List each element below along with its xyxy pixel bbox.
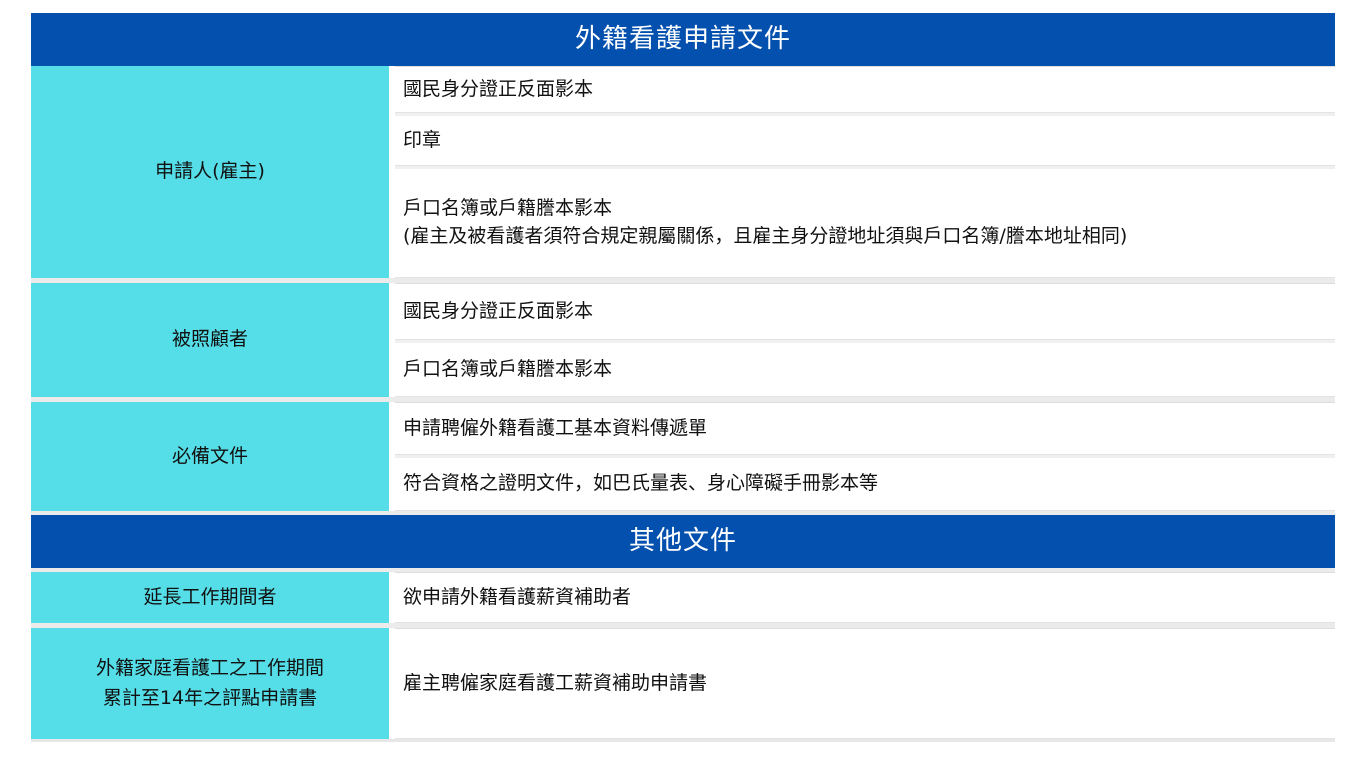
document-item-multiline: 戶口名簿或戶籍謄本影本 (雇主及被看護者須符合規定親屬關係，且雇主身分證地址須與… — [403, 195, 1127, 250]
document-item-text-line2: (雇主及被看護者須符合規定親屬關係，且雇主身分證地址須與戶口名簿/謄本地址相同) — [403, 223, 1127, 251]
document-item-text: 雇主聘僱家庭看護工薪資補助申請書 — [403, 670, 707, 698]
row-label-extended-work-period: 延長工作期間者 — [31, 572, 389, 623]
document-item-text: 符合資格之證明文件，如巴氏量表、身心障礙手冊影本等 — [403, 470, 878, 498]
list-item: 符合資格之證明文件，如巴氏量表、身心障礙手冊影本等 — [395, 455, 1335, 511]
list-item: 戶口名簿或戶籍謄本影本 (雇主及被看護者須符合規定親屬關係，且雇主身分證地址須與… — [395, 166, 1335, 278]
table-row: 被照顧者 國民身分證正反面影本 戶口名簿或戶籍謄本影本 — [31, 283, 1335, 397]
table-bottom-edge — [31, 739, 1335, 742]
table-row: 外籍家庭看護工之工作期間累計至14年之評點申請書 雇主聘僱家庭看護工薪資補助申請… — [31, 628, 1335, 739]
list-item: 國民身分證正反面影本 — [395, 283, 1335, 340]
document-item-text: 欲申請外籍看護薪資補助者 — [403, 584, 631, 612]
table-row: 必備文件 申請聘僱外籍看護工基本資料傳遞單 符合資格之證明文件，如巴氏量表、身心… — [31, 402, 1335, 511]
list-item: 國民身分證正反面影本 — [395, 66, 1335, 113]
value-column: 國民身分證正反面影本 戶口名簿或戶籍謄本影本 — [389, 283, 1335, 397]
document-item-text: 國民身分證正反面影本 — [403, 76, 593, 104]
value-column: 雇主聘僱家庭看護工薪資補助申請書 — [389, 628, 1335, 739]
row-label-14-year-points-application: 外籍家庭看護工之工作期間累計至14年之評點申請書 — [31, 628, 389, 739]
section-header-foreign-caregiver-application: 外籍看護申請文件 — [31, 13, 1335, 66]
row-label-care-recipient: 被照顧者 — [31, 283, 389, 397]
document-item-text-line1: 戶口名簿或戶籍謄本影本 — [403, 195, 1127, 223]
document-item-text: 印章 — [403, 127, 441, 155]
document-item-text: 國民身分證正反面影本 — [403, 298, 593, 326]
value-column: 欲申請外籍看護薪資補助者 — [389, 572, 1335, 623]
value-column: 國民身分證正反面影本 印章 戶口名簿或戶籍謄本影本 (雇主及被看護者須符合規定親… — [389, 66, 1335, 278]
document-item-text: 戶口名簿或戶籍謄本影本 — [403, 356, 612, 384]
document-item-text: 申請聘僱外籍看護工基本資料傳遞單 — [403, 415, 707, 443]
list-item: 戶口名簿或戶籍謄本影本 — [395, 340, 1335, 397]
section-header-other-documents: 其他文件 — [31, 515, 1335, 568]
list-item: 申請聘僱外籍看護工基本資料傳遞單 — [395, 402, 1335, 455]
list-item: 欲申請外籍看護薪資補助者 — [395, 572, 1335, 623]
list-item: 雇主聘僱家庭看護工薪資補助申請書 — [395, 628, 1335, 739]
table-row: 延長工作期間者 欲申請外籍看護薪資補助者 — [31, 572, 1335, 623]
row-label-applicant-employer: 申請人(雇主) — [31, 66, 389, 278]
list-item: 印章 — [395, 113, 1335, 166]
value-column: 申請聘僱外籍看護工基本資料傳遞單 符合資格之證明文件，如巴氏量表、身心障礙手冊影… — [389, 402, 1335, 511]
row-label-required-documents: 必備文件 — [31, 402, 389, 511]
application-documents-table: 外籍看護申請文件 申請人(雇主) 國民身分證正反面影本 印章 戶口名簿或戶籍謄本… — [31, 13, 1335, 742]
table-row: 申請人(雇主) 國民身分證正反面影本 印章 戶口名簿或戶籍謄本影本 (雇主及被看… — [31, 66, 1335, 278]
